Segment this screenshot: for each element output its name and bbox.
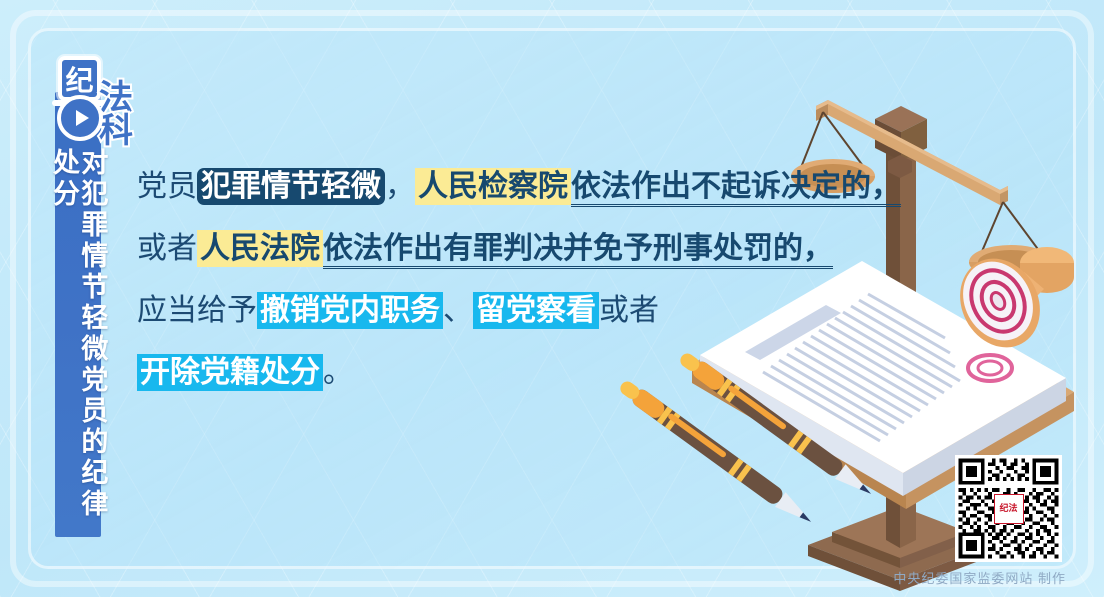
paragraph-line-3: 应当给予撤销党内职务、留党察看或者 [137,280,857,342]
underlined-segment: 依法作出不起诉决定的， [571,170,901,207]
text-segment-plain: 或者 [599,294,659,327]
text-segment-plain: 或者 [137,232,197,265]
text-segment-comma: ， [385,170,415,203]
highlight-cyan-segment: 开除党籍处分 [137,354,323,391]
highlight-yellow-segment: 人民检察院 [415,168,571,205]
qr-center-logo: 纪法 [994,494,1024,524]
text-segment-plain: 党员 [137,170,197,203]
paragraph-line-4: 开除党籍处分。 [137,342,857,404]
text-segment-period: 。 [323,356,353,389]
highlight-yellow-segment: 人民法院 [197,230,323,267]
paragraph-line-2: 或者人民法院依法作出有罪判决并免予刑事处罚的， [137,218,857,280]
vertical-title-banner: 对犯罪情节轻微党员的纪律处分 [55,92,101,537]
paragraph-line-1: 党员犯罪情节轻微，人民检察院依法作出不起诉决定的， [137,156,857,218]
stamp-icon [945,245,1074,362]
logo-char-ke: 科 [99,103,133,152]
highlight-cyan-segment: 撤销党内职务 [257,292,443,329]
underlined-segment: 依法作出有罪判决并免予刑事处罚的， [323,232,833,269]
text-segment-separator: 、 [443,294,473,327]
vertical-title-text: 对犯罪情节轻微党员的纪律处分 [50,148,107,537]
infographic-canvas: 对犯罪情节轻微党员的纪律处分 纪 法 科 党员犯罪情节轻微，人民检察院依法作出不… [0,0,1104,597]
play-icon[interactable] [57,95,103,141]
highlight-cyan-segment: 留党察看 [473,292,599,329]
brand-logo[interactable]: 纪 法 科 [52,56,148,148]
footer-credit: 中央纪委国家监委网站 制作 [893,568,1066,587]
text-segment-plain: 应当给予 [137,294,257,327]
highlight-navy-segment: 犯罪情节轻微 [197,168,385,205]
body-paragraph: 党员犯罪情节轻微，人民检察院依法作出不起诉决定的， 或者人民法院依法作出有罪判决… [137,156,857,404]
qr-code-icon[interactable]: 纪法 [955,455,1062,562]
